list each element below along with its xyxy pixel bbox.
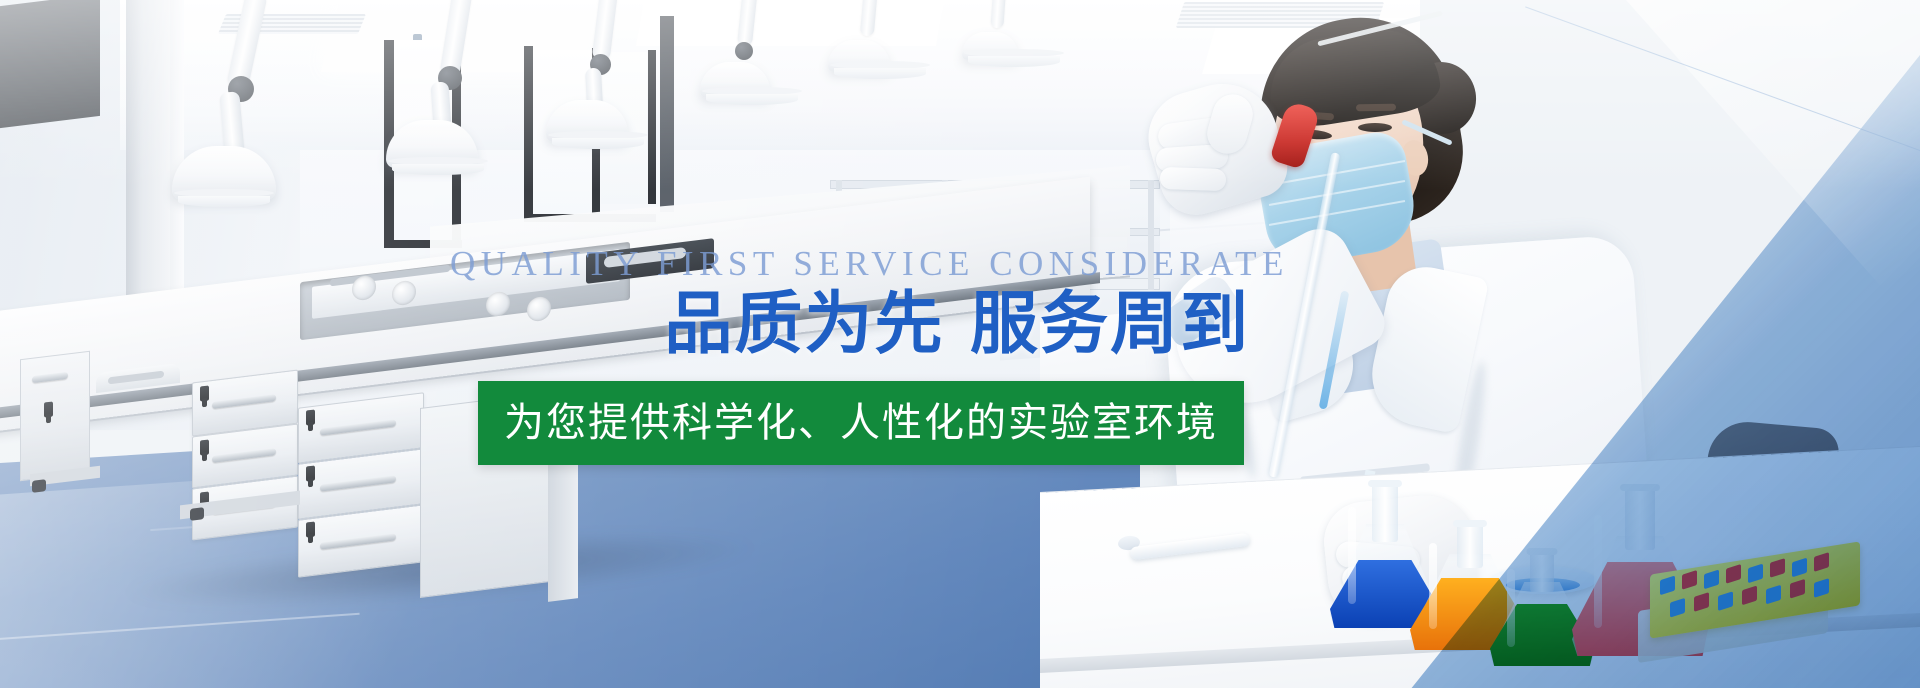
dome-rim <box>548 131 648 139</box>
cabinet-caster <box>32 479 46 493</box>
dome-rim <box>830 61 930 69</box>
flask-neck <box>1457 520 1483 568</box>
green-subtitle-ribbon: 为您提供科学化、人性化的实验室环境 <box>478 381 1244 465</box>
drawer-lock-icon <box>306 465 315 481</box>
laboratory-hero-banner: QUALITY FIRST SERVICE CONSIDERATE 品质为先 服… <box>0 0 1920 688</box>
english-tagline: QUALITY FIRST SERVICE CONSIDERATE <box>450 246 1250 281</box>
drawer-lock-icon <box>200 439 209 455</box>
structural-column <box>126 0 172 300</box>
window-mullion <box>524 46 533 222</box>
hero-copy-block: QUALITY FIRST SERVICE CONSIDERATE 品质为先 服… <box>450 246 1250 465</box>
drawer-lock-icon <box>200 385 209 401</box>
ribbon-subtitle-text: 为您提供科学化、人性化的实验室环境 <box>504 403 1218 443</box>
undercounter-recess <box>0 0 100 128</box>
bench-cabinet-left <box>20 351 90 482</box>
drawer-lock-icon <box>306 521 315 537</box>
ceiling-light-panel <box>636 0 944 46</box>
eyebrow <box>1356 104 1396 112</box>
glove-finger <box>1160 167 1227 191</box>
cabinet-caster <box>190 507 204 521</box>
structural-column-edge <box>170 0 184 290</box>
drawer-lock-icon <box>306 409 315 425</box>
doorway-shadow <box>660 16 674 212</box>
flask-highlight <box>1429 543 1437 629</box>
flask-neck <box>1372 480 1398 542</box>
chinese-headline: 品质为先 服务周到 <box>450 287 1250 363</box>
cabinet-lock-icon <box>44 401 53 417</box>
flask-rim <box>1453 520 1487 527</box>
arm-joint <box>735 42 753 60</box>
window-mullion <box>648 50 656 204</box>
dome-hood <box>962 32 1018 60</box>
dome-rim <box>964 49 1064 57</box>
eye <box>1358 123 1392 132</box>
dome-rim <box>388 157 488 165</box>
flask-rim <box>1368 480 1402 487</box>
dome-rim <box>174 189 274 197</box>
flask-highlight <box>1348 507 1356 605</box>
dome-rim <box>702 87 802 95</box>
